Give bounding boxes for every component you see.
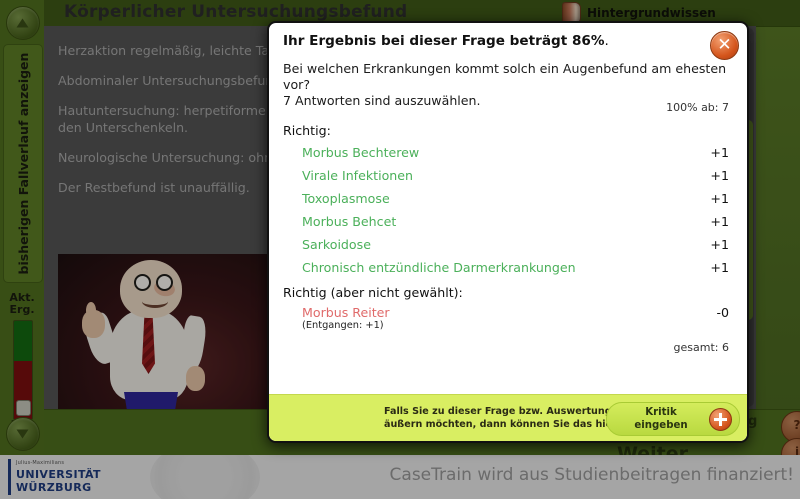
answer-points: +1 [710,191,729,206]
score-gauge-green [14,321,32,361]
casetrain-app: bisherigen Fallverlauf anzeigen Akt. Erg… [0,0,800,499]
missed-answer-label: Morbus Reiter [302,305,390,320]
result-headline-text: Ihr Ergebnis bei dieser Frage beträgt 86… [283,33,605,49]
current-score-caption: Akt. Erg. [4,292,40,316]
question-line-1: Bei welchen Erkrankungen kommt solch ein… [283,61,738,93]
funding-text: CaseTrain wird aus Studienbeitragen fina… [390,465,794,485]
figure-right-arm [178,315,208,374]
answer-label: Sarkoidose [302,237,371,252]
page-title: Körperlicher Untersuchungsbefund [64,2,407,22]
answer-label: Toxoplasmose [302,191,390,206]
result-dialog: ✕ Ihr Ergebnis bei dieser Frage beträgt … [267,21,749,443]
logo-bar [8,459,11,495]
scroll-down-button[interactable] [6,417,40,451]
dialog-body: Ihr Ergebnis bei dieser Frage beträgt 86… [269,23,747,395]
answer-label: Virale Infektionen [302,168,413,183]
score-gauge-marker [16,400,31,416]
submit-feedback-button[interactable]: Kritik eingeben [606,402,740,436]
logo-line-1: UNIVERSITÄT [16,468,101,481]
case-history-label: bisherigen Fallverlauf anzeigen [4,45,42,282]
answer-points: +1 [710,145,729,160]
threshold-label: 100% ab: 7 [666,101,729,114]
glasses-icon [134,274,180,291]
plus-circle-icon [709,408,732,431]
sidebar-item-case-history[interactable]: bisherigen Fallverlauf anzeigen [3,44,43,283]
result-headline-period: . [605,33,609,49]
university-logo: Julius-Maximilians UNIVERSITÄT WÜRZBURG [8,459,128,495]
submit-feedback-label: Kritik eingeben [617,406,705,432]
missed-answer-note: (Entgangen: +1) [302,320,384,331]
section-heading-correct: Richtig: [283,123,331,138]
chevron-down-icon [17,430,29,439]
figure-legs [124,392,178,409]
correct-answer-list: Morbus Bechterew +1 Virale Infektionen +… [269,143,747,281]
help-icon: ? [782,418,800,432]
answer-points: +1 [710,237,729,252]
footer-bar: Julius-Maximilians UNIVERSITÄT WÜRZBURG … [0,455,800,499]
answer-row: Chronisch entzündliche Darmerkrankungen … [269,258,747,281]
scroll-up-button[interactable] [6,6,40,40]
answer-row: Sarkoidose +1 [269,235,747,258]
answer-points: +1 [710,214,729,229]
figure-mouth [142,295,168,308]
answer-label: Morbus Bechterew [302,145,419,160]
logo-small-text: Julius-Maximilians [16,460,64,466]
thumbs-up-icon [86,302,96,319]
result-headline: Ihr Ergebnis bei dieser Frage beträgt 86… [283,33,609,49]
logo-line-2: WÜRZBURG [16,481,92,494]
answer-row: Virale Infektionen +1 [269,166,747,189]
answer-points: +1 [710,168,729,183]
section-heading-missed: Richtig (aber nicht gewählt): [283,285,463,300]
background-knowledge-label: Hintergrundwissen [587,6,716,20]
dialog-footer: Falls Sie zu dieser Frage bzw. Auswertun… [269,394,747,441]
answer-points: +1 [710,260,729,275]
score-gauge [13,320,33,420]
missed-answer-points: -0 [716,305,729,320]
chevron-up-icon [17,19,29,28]
answer-label: Morbus Behcet [302,214,396,229]
submit-feedback-line-2: eingeben [617,419,705,432]
total-score-label: gesamt: 6 [674,341,729,354]
case-image [58,254,268,409]
university-seal-watermark [150,455,260,499]
score-caption-line2: Erg. [4,304,40,316]
left-sidebar: bisherigen Fallverlauf anzeigen Akt. Erg… [0,0,44,455]
answer-row: Morbus Bechterew +1 [269,143,747,166]
figure-tie [142,316,155,374]
submit-feedback-line-1: Kritik [617,406,705,419]
answer-label: Chronisch entzündliche Darmerkrankungen [302,260,576,275]
answer-row: Toxoplasmose +1 [269,189,747,212]
figure-right-hand [186,366,205,391]
answer-row: Morbus Behcet +1 [269,212,747,235]
